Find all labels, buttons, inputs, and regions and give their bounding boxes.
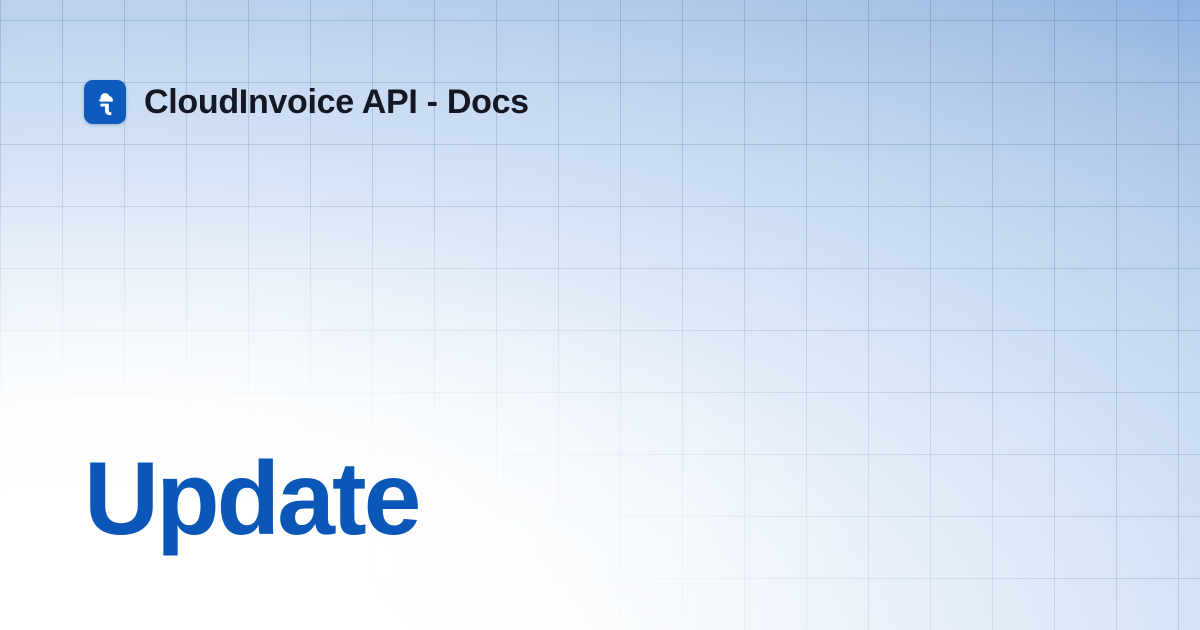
brand-title: CloudInvoice API - Docs [144, 85, 529, 119]
docs-og-banner: CloudInvoice API - Docs Update [0, 0, 1200, 630]
brand-header[interactable]: CloudInvoice API - Docs [84, 80, 529, 124]
cloud-invoice-logo-icon [84, 80, 126, 124]
page-title: Update [84, 447, 418, 551]
